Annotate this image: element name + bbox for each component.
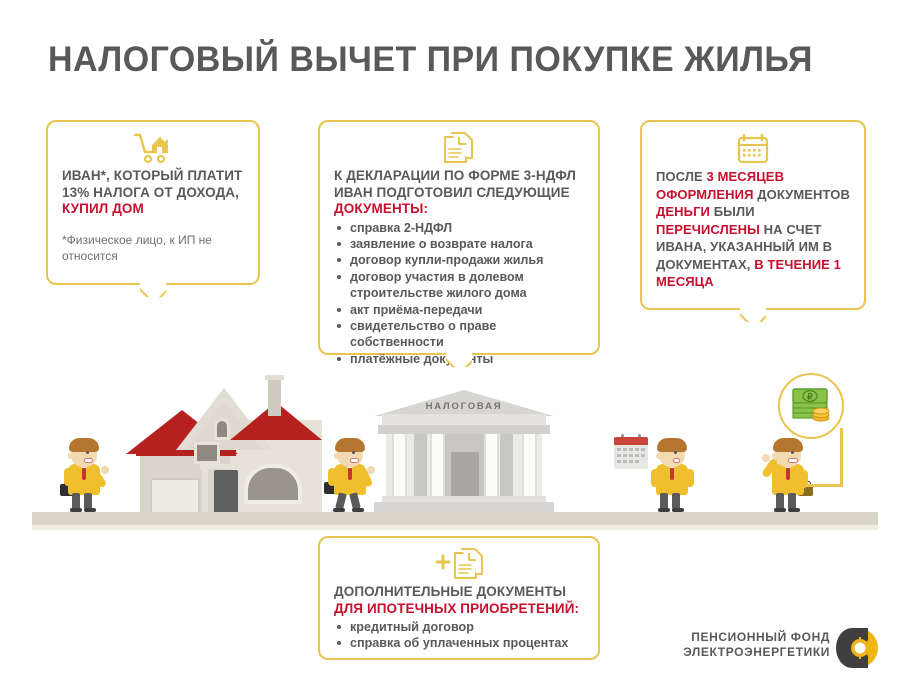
person-legs: [776, 493, 800, 512]
list-item: справка 2-НДФЛ: [334, 220, 584, 236]
person-shoe-left: [333, 508, 345, 512]
person-leg-left: [776, 493, 784, 509]
person-leg-right: [788, 493, 796, 509]
calendar-icon: [642, 122, 864, 168]
illustration-scene: НАЛОГОВАЯ: [0, 360, 910, 535]
list-item: акт приёма-передачи: [334, 302, 584, 318]
wall-calendar-icon: [614, 437, 648, 469]
person-leg-right: [672, 493, 680, 509]
house-chimney-cap: [265, 375, 284, 380]
card-money-headline: ПОСЛЕ 3 МЕСЯЦЕВ ОФОРМЛЕНИЯ ДОКУМЕНТОВ ДЕ…: [656, 168, 850, 291]
person-hand-left: [762, 454, 770, 462]
money-banknotes-icon: ₽: [792, 387, 832, 425]
money-speech-bubble: ₽: [778, 373, 848, 443]
person-tie: [348, 468, 352, 480]
person-ivan-happy: [766, 436, 812, 512]
card-money-tail: [740, 308, 766, 322]
person-ear: [656, 453, 661, 459]
person-mouth: [673, 458, 680, 463]
house-illustration: [118, 372, 340, 512]
person-eye: [674, 451, 677, 454]
mortgage-documents-list: кредитный договор справка об уплаченных …: [334, 619, 584, 652]
logo-line-1: ПЕНСИОННЫЙ ФОНД: [682, 630, 830, 645]
card-documents-highlight: ДОКУМЕНТЫ: [334, 201, 423, 216]
list-item: заявление о возврате налога: [334, 236, 584, 252]
card-mortgage-headline-text: ДОПОЛНИТЕЛЬНЫЕ ДОКУМЕНТЫ: [334, 584, 566, 599]
shopping-cart-house-icon: [48, 122, 258, 168]
tax-office-column-2: [430, 434, 445, 496]
card-documents-headline: К ДЕКЛАРАЦИИ ПО ФОРМЕ 3-НДФЛ ИВАН ПОДГОТ…: [334, 168, 584, 218]
card-ivan-tail: [140, 283, 166, 297]
tax-office-step-lower: [374, 502, 554, 512]
house-porch-column-1: [202, 468, 208, 512]
money-red-3: ПЕРЕЧИСЛЕНЫ: [656, 222, 760, 237]
house-side-column: [308, 460, 314, 512]
person-mouth: [84, 458, 93, 463]
person-arm-left: [328, 468, 336, 486]
page-title: НАЛОГОВЫЙ ВЫЧЕТ ПРИ ПОКУПКЕ ЖИЛЬЯ: [48, 40, 813, 80]
person-shoe-left: [774, 508, 786, 512]
house-garage-door: [150, 478, 200, 512]
list-item: свидетельство о праве собственности: [334, 318, 584, 351]
person-leg-left: [660, 493, 668, 509]
card-money-transfer: ПОСЛЕ 3 МЕСЯЦЕВ ОФОРМЛЕНИЯ ДОКУМЕНТОВ ДЕ…: [640, 120, 866, 310]
person-eye: [86, 451, 89, 454]
person-shoe-right: [84, 508, 96, 512]
person-eye: [791, 451, 794, 454]
tax-office-label: НАЛОГОВАЯ: [374, 401, 554, 412]
person-leg-left: [72, 493, 80, 509]
card-ivan-headline-text: ИВАН*, КОТОРЫЙ ПЛАТИТ 13% НАЛОГА ОТ ДОХО…: [62, 168, 242, 200]
person-shoe-right: [352, 508, 364, 512]
tax-office-column-3: [484, 434, 499, 496]
card-documents-headline-text: К ДЕКЛАРАЦИИ ПО ФОРМЕ 3-НДФЛ ИВАН ПОДГОТ…: [334, 168, 576, 200]
bubble-stem-horizontal: [806, 484, 843, 487]
person-mouth: [350, 458, 359, 463]
person-ivan-at-house: [62, 436, 108, 512]
money-red-2: ДЕНЬГИ: [656, 204, 710, 219]
ground-shadow: [32, 525, 878, 530]
person-tie: [786, 468, 790, 480]
card-mortgage-colon: :: [575, 601, 580, 616]
person-ear: [334, 453, 339, 459]
tax-office-column-1: [392, 434, 407, 496]
tax-office-building: НАЛОГОВАЯ: [374, 390, 554, 512]
calendar-grid: [614, 445, 648, 469]
person-hair: [69, 438, 99, 452]
plus-documents-icon: [320, 538, 598, 584]
card-mortgage-highlight: ДЛЯ ИПОТЕЧНЫХ ПРИОБРЕТЕНИЙ: [334, 601, 575, 616]
documents-list: справка 2-НДФЛ заявление о возврате нало…: [334, 220, 584, 368]
tax-office-pillar-left: [414, 434, 427, 496]
card-ivan-footnote: *Физическое лицо, к ИП не относится: [62, 232, 244, 264]
money-text-2: ДОКУМЕНТОВ: [754, 187, 850, 202]
money-text-3: БЫЛИ: [710, 204, 755, 219]
person-shoe-right: [788, 508, 800, 512]
card-documents: К ДЕКЛАРАЦИИ ПО ФОРМЕ 3-НДФЛ ИВАН ПОДГОТ…: [318, 120, 600, 355]
list-item: кредитный договор: [334, 619, 584, 635]
card-mortgage-documents: ДОПОЛНИТЕЛЬНЫЕ ДОКУМЕНТЫ ДЛЯ ИПОТЕЧНЫХ П…: [318, 536, 600, 660]
list-item: договор купли-продажи жилья: [334, 252, 584, 268]
logo: ПЕНСИОННЫЙ ФОНД ЭЛЕКТРОЭНЕРГЕТИКИ: [682, 628, 882, 672]
list-item: справка об уплаченных процентах: [334, 635, 584, 651]
person-hair: [335, 438, 365, 452]
logo-text: ПЕНСИОННЫЙ ФОНД ЭЛЕКТРОЭНЕРГЕТИКИ: [682, 630, 830, 660]
house-chimney: [268, 378, 281, 416]
person-arm-left: [651, 469, 659, 487]
sun-gear-logo-icon: [838, 628, 878, 668]
person-legs: [72, 493, 96, 512]
person-ear: [772, 453, 777, 459]
person-arm-right: [686, 469, 694, 487]
person-ivan-walking: [328, 436, 374, 512]
person-shoe-right: [672, 508, 684, 512]
person-mouth-smiling: [788, 458, 798, 463]
card-documents-colon: :: [423, 201, 428, 216]
tax-office-doorway: [451, 452, 479, 496]
person-shoe-left: [658, 508, 670, 512]
tax-office-pillar-right: [500, 434, 513, 496]
tax-office-column-4: [522, 434, 537, 496]
person-arm-left: [64, 468, 72, 486]
logo-line-2: ЭЛЕКТРОЭНЕРГЕТИКИ: [682, 645, 830, 660]
documents-icon: [320, 122, 598, 168]
person-tie: [670, 468, 674, 480]
person-shoe-left: [70, 508, 82, 512]
person-ivan-waiting: [650, 436, 696, 512]
person-leg-right: [84, 493, 92, 509]
ruble-symbol: ₽: [807, 392, 813, 402]
person-legs: [660, 493, 684, 512]
card-ivan-headline: ИВАН*, КОТОРЫЙ ПЛАТИТ 13% НАЛОГА ОТ ДОХО…: [62, 168, 244, 218]
person-tie: [82, 468, 86, 480]
house-upper-window: [194, 442, 220, 464]
person-hand-right: [101, 466, 109, 474]
card-ivan: ИВАН*, КОТОРЫЙ ПЛАТИТ 13% НАЛОГА ОТ ДОХО…: [46, 120, 260, 285]
ground-strip: [32, 512, 878, 525]
house-attic-window: [214, 418, 230, 440]
person-legs: [338, 493, 362, 512]
person-hair: [657, 438, 687, 452]
card-ivan-highlight: КУПИЛ ДОМ: [62, 201, 144, 216]
list-item: договор участия в долевом строительстве …: [334, 269, 584, 302]
calendar-header: [614, 437, 648, 445]
house-front-door: [214, 470, 238, 512]
money-text-1: ПОСЛЕ: [656, 169, 707, 184]
bubble-stem-vertical: [840, 428, 843, 486]
person-ear: [68, 453, 73, 459]
tax-office-architrave: [378, 425, 550, 434]
person-eye: [352, 451, 355, 454]
house-bay-window: [244, 464, 302, 504]
card-mortgage-headline: ДОПОЛНИТЕЛЬНЫЕ ДОКУМЕНТЫ ДЛЯ ИПОТЕЧНЫХ П…: [334, 584, 584, 617]
